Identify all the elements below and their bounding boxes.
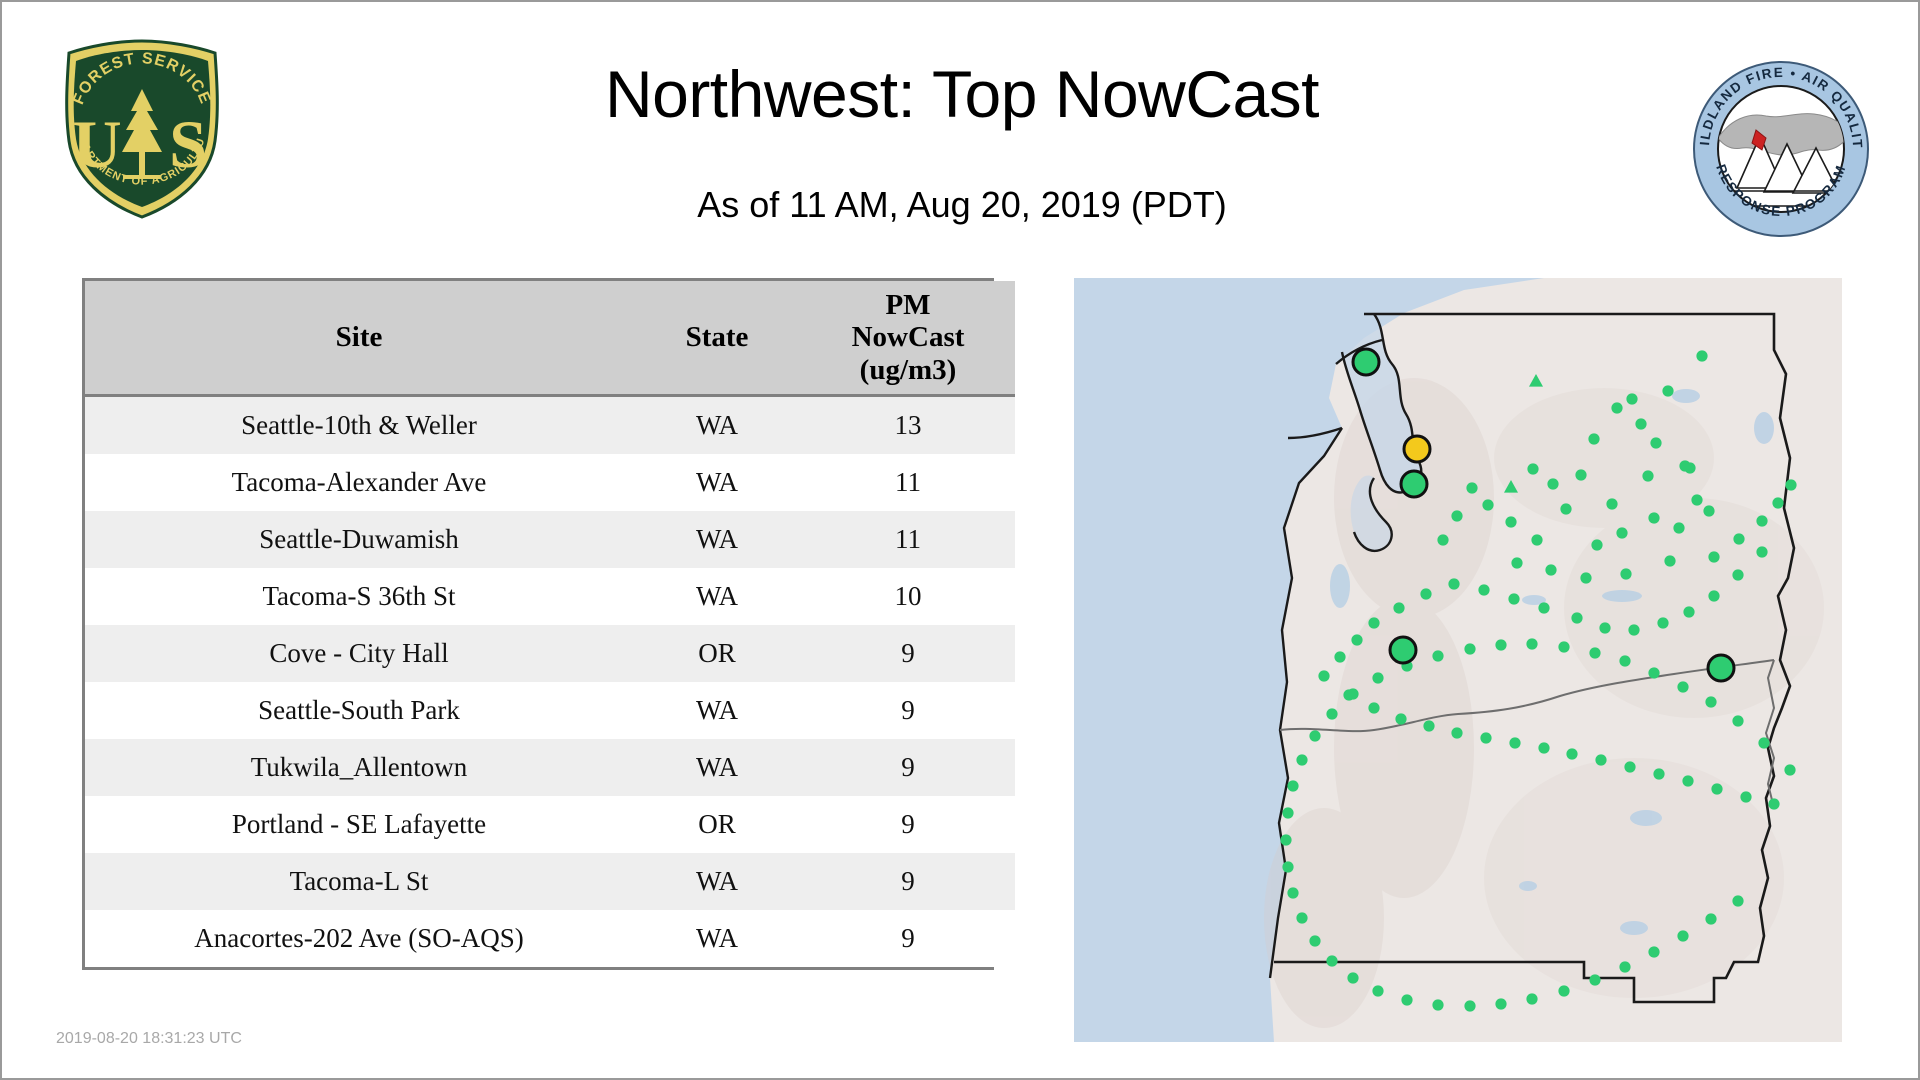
monitor-dot[interactable] [1511,557,1522,568]
monitor-dot[interactable] [1682,775,1693,786]
monitor-dot[interactable] [1599,622,1610,633]
monitor-dot[interactable] [1432,650,1443,661]
monitor-dot[interactable] [1588,433,1599,444]
slide-page: FOREST SERVICE DEPARTMENT OF AGRICULTURE… [0,0,1920,1080]
cell-state: WA [633,568,801,625]
monitor-dot[interactable] [1296,754,1307,765]
monitor-dot[interactable] [1785,479,1796,490]
table-row: Cove - City Hall OR 9 [85,625,1015,682]
table-row: Seattle-Duwamish WA 11 [85,511,1015,568]
cell-site: Tacoma-Alexander Ave [85,454,633,511]
monitor-dot[interactable] [1784,764,1795,775]
table-header-row: Site State PM NowCast (ug/m3) [85,281,1015,396]
monitor-dot[interactable] [1628,624,1639,635]
cell-value: 13 [801,396,1015,455]
monitor-dot[interactable] [1606,498,1617,509]
monitor-dot[interactable] [1351,634,1362,645]
monitor-dot[interactable] [1705,696,1716,707]
cell-state: WA [633,511,801,568]
top-site-marker[interactable] [1708,655,1734,681]
monitor-dot[interactable] [1648,946,1659,957]
monitor-dot[interactable] [1368,617,1379,628]
monitor-dot[interactable] [1677,681,1688,692]
monitor-dot[interactable] [1591,539,1602,550]
monitor-dot[interactable] [1580,572,1591,583]
monitor-dot[interactable] [1347,688,1358,699]
monitor-dot[interactable] [1505,516,1516,527]
monitor-dot[interactable] [1538,602,1549,613]
table-row: Portland - SE Lafayette OR 9 [85,796,1015,853]
monitor-dot[interactable] [1309,935,1320,946]
cell-site: Portland - SE Lafayette [85,796,633,853]
monitor-dot[interactable] [1464,1000,1475,1011]
monitor-dot[interactable] [1526,993,1537,1004]
cell-state: WA [633,739,801,796]
monitor-dot[interactable] [1347,972,1358,983]
page-title: Northwest: Top NowCast [262,56,1662,132]
pm-nowcast-line2: NowCast [805,321,1011,353]
table-row: Seattle-10th & Weller WA 13 [85,396,1015,455]
monitor-dot[interactable] [1650,437,1661,448]
table-row: Tukwila_Allentown WA 9 [85,739,1015,796]
cell-site: Seattle-10th & Weller [85,396,633,455]
top-site-marker[interactable] [1353,349,1379,375]
forest-service-logo: FOREST SERVICE DEPARTMENT OF AGRICULTURE… [57,37,227,222]
monitor-dot[interactable] [1423,720,1434,731]
page-subtitle: As of 11 AM, Aug 20, 2019 (PDT) [262,184,1662,226]
cell-value: 9 [801,739,1015,796]
pm-nowcast-line3: (ug/m3) [805,354,1011,386]
monitor-dot[interactable] [1287,780,1298,791]
monitor-dot[interactable] [1334,651,1345,662]
monitor-dot[interactable] [1372,672,1383,683]
monitor-dot[interactable] [1595,754,1606,765]
monitor-dot[interactable] [1547,478,1558,489]
monitor-dot[interactable] [1703,505,1714,516]
table-row: Tacoma-L St WA 9 [85,853,1015,910]
monitor-dot[interactable] [1732,895,1743,906]
table-row: Tacoma-S 36th St WA 10 [85,568,1015,625]
monitor-dot[interactable] [1740,791,1751,802]
cell-value: 11 [801,454,1015,511]
monitor-dot[interactable] [1558,985,1569,996]
monitor-dot[interactable] [1756,546,1767,557]
monitor-dot[interactable] [1733,533,1744,544]
cell-value: 9 [801,853,1015,910]
monitor-dot[interactable] [1508,593,1519,604]
column-header-pm-nowcast: PM NowCast (ug/m3) [801,281,1015,396]
monitor-dot[interactable] [1664,555,1675,566]
monitor-dot[interactable] [1648,512,1659,523]
cell-site: Anacortes-202 Ave (SO-AQS) [85,910,633,967]
cell-site: Tacoma-S 36th St [85,568,633,625]
monitor-dot[interactable] [1466,482,1477,493]
monitor-dot[interactable] [1619,655,1630,666]
monitor-dot[interactable] [1560,503,1571,514]
monitor-dot[interactable] [1526,638,1537,649]
monitor-dot[interactable] [1558,641,1569,652]
monitor-dot[interactable] [1575,469,1586,480]
monitor-dot[interactable] [1653,768,1664,779]
monitor-dot[interactable] [1531,534,1542,545]
top-site-marker[interactable] [1404,436,1430,462]
monitor-dot[interactable] [1589,647,1600,658]
cell-value: 10 [801,568,1015,625]
monitor-dot[interactable] [1626,393,1637,404]
monitor-dot[interactable] [1768,798,1779,809]
monitor-dot[interactable] [1611,402,1622,413]
monitor-dot[interactable] [1280,834,1291,845]
monitor-dot[interactable] [1495,998,1506,1009]
monitor-dot[interactable] [1708,590,1719,601]
monitor-dot[interactable] [1589,974,1600,985]
monitor-dot[interactable] [1482,499,1493,510]
monitor-dot[interactable] [1691,494,1702,505]
monitor-dot[interactable] [1616,527,1627,538]
monitor-dot[interactable] [1368,702,1379,713]
monitor-dot[interactable] [1509,737,1520,748]
monitor-dot[interactable] [1635,418,1646,429]
monitor-dot[interactable] [1538,742,1549,753]
monitor-dot[interactable] [1326,955,1337,966]
monitor-dot[interactable] [1309,730,1320,741]
top-site-marker[interactable] [1390,637,1416,663]
cell-site: Tukwila_Allentown [85,739,633,796]
monitor-dot[interactable] [1545,564,1556,575]
column-header-site: Site [85,281,633,396]
monitor-dot[interactable] [1566,748,1577,759]
cell-value: 9 [801,796,1015,853]
monitor-dot[interactable] [1708,551,1719,562]
monitor-dot[interactable] [1372,985,1383,996]
monitor-dot[interactable] [1711,783,1722,794]
monitor-dot[interactable] [1624,761,1635,772]
monitor-dot[interactable] [1705,913,1716,924]
monitor-dot[interactable] [1420,588,1431,599]
monitor-dot[interactable] [1282,807,1293,818]
table-row: Anacortes-202 Ave (SO-AQS) WA 9 [85,910,1015,967]
cell-site: Seattle-Duwamish [85,511,633,568]
monitor-dot[interactable] [1296,912,1307,923]
cell-value: 9 [801,910,1015,967]
monitor-dot[interactable] [1772,497,1783,508]
monitor-dot[interactable] [1451,727,1462,738]
cell-site: Cove - City Hall [85,625,633,682]
monitor-dot[interactable] [1451,510,1462,521]
generated-timestamp: 2019-08-20 18:31:23 UTC [56,1030,242,1048]
monitor-dot[interactable] [1683,606,1694,617]
monitor-dot[interactable] [1395,713,1406,724]
monitor-dot[interactable] [1648,667,1659,678]
monitor-dot[interactable] [1318,670,1329,681]
cell-state: WA [633,396,801,455]
column-header-state: State [633,281,801,396]
monitor-dot[interactable] [1657,617,1668,628]
wfaqrp-logo: WILDLAND FIRE • AIR QUALITY RESPONSE PRO… [1692,60,1870,238]
table-row: Tacoma-Alexander Ave WA 11 [85,454,1015,511]
cell-state: WA [633,454,801,511]
cell-site: Tacoma-L St [85,853,633,910]
monitor-dot[interactable] [1677,930,1688,941]
monitor-dot[interactable] [1448,578,1459,589]
svg-text:S: S [169,106,207,182]
monitor-dot[interactable] [1282,861,1293,872]
monitor-dot[interactable] [1401,994,1412,1005]
monitor-dot[interactable] [1495,639,1506,650]
pm-nowcast-line1: PM [805,289,1011,321]
cell-value: 9 [801,682,1015,739]
monitor-dot[interactable] [1696,350,1707,361]
table-body: Seattle-10th & Weller WA 13 Tacoma-Alexa… [85,396,1015,968]
nowcast-table-container: Site State PM NowCast (ug/m3) Seattle-10… [82,278,994,970]
cell-state: WA [633,910,801,967]
monitor-dot[interactable] [1684,462,1695,473]
cell-value: 9 [801,625,1015,682]
monitor-dot[interactable] [1673,522,1684,533]
monitor-dot[interactable] [1437,534,1448,545]
nowcast-table: Site State PM NowCast (ug/m3) Seattle-10… [85,281,1015,967]
cell-state: WA [633,682,801,739]
air-quality-monitor-map[interactable]: Air Quality Index Hazardous Very Unhealt… [1074,278,1842,1042]
cell-site: Seattle-South Park [85,682,633,739]
monitor-dot[interactable] [1642,470,1653,481]
monitor-dot[interactable] [1287,887,1298,898]
monitor-dot[interactable] [1732,569,1743,580]
cell-value: 11 [801,511,1015,568]
monitor-dot[interactable] [1464,643,1475,654]
monitor-dot[interactable] [1756,515,1767,526]
monitor-dot[interactable] [1432,999,1443,1010]
table-row: Seattle-South Park WA 9 [85,682,1015,739]
cell-state: OR [633,625,801,682]
svg-text:U: U [72,106,121,182]
monitor-dot[interactable] [1620,568,1631,579]
cell-state: WA [633,853,801,910]
monitor-dot[interactable] [1571,612,1582,623]
monitor-dot[interactable] [1732,715,1743,726]
monitor-dot[interactable] [1527,463,1538,474]
top-site-marker[interactable] [1401,471,1427,497]
monitor-dot[interactable] [1393,602,1404,613]
monitor-dot[interactable] [1662,385,1673,396]
monitor-dot[interactable] [1758,737,1769,748]
monitor-dot[interactable] [1326,708,1337,719]
monitor-dot[interactable] [1480,732,1491,743]
monitor-dot[interactable] [1619,961,1630,972]
cell-state: OR [633,796,801,853]
monitor-dot[interactable] [1478,584,1489,595]
